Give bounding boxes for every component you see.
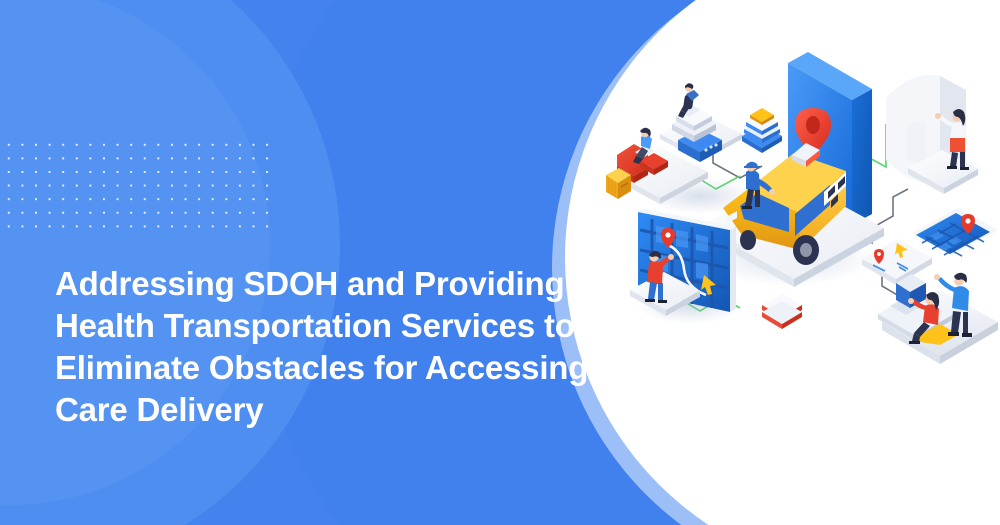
seated-worker-on-blocks — [660, 83, 742, 162]
stack-yellow-blue — [742, 108, 782, 153]
taxi-wheel — [740, 230, 756, 250]
info-card — [862, 239, 932, 285]
map-card-small — [912, 208, 998, 256]
isometric-illustration — [0, 0, 1000, 525]
hero-banner: Addressing SDOH and Providing Health Tra… — [0, 0, 1000, 525]
stack-white-red — [762, 294, 802, 329]
illustration-svg — [0, 0, 1000, 525]
